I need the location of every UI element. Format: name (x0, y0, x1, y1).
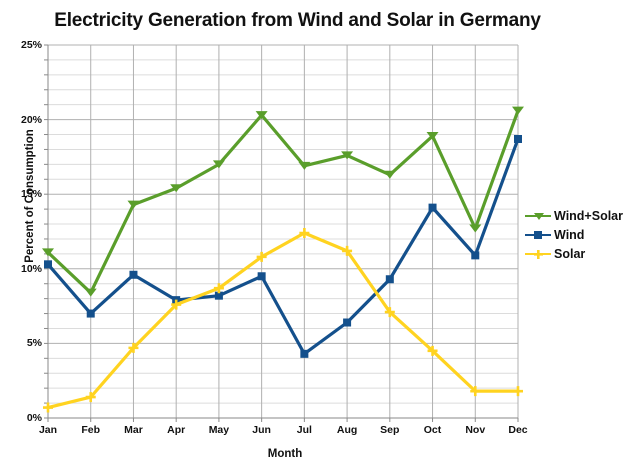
data-point-marker-square (429, 204, 437, 212)
data-point-marker-triangle-down (469, 225, 481, 233)
data-point-marker-square (514, 135, 522, 143)
legend-marker-plus-icon (525, 247, 551, 261)
legend-label: Wind (551, 228, 584, 242)
y-axis-tick-label: 20% (2, 114, 42, 126)
series-line-solar (48, 233, 518, 408)
y-axis-tick-label: 25% (2, 39, 42, 51)
data-point-marker-square (258, 272, 266, 280)
legend-item-wind[interactable]: Wind (525, 225, 623, 244)
legend-item-solar[interactable]: Solar (525, 244, 623, 263)
chart-legend: Wind+Solar Wind Solar (525, 206, 623, 263)
chart-container: Electricity Generation from Wind and Sol… (0, 0, 623, 467)
data-point-marker-plus (513, 386, 523, 396)
y-axis-tick-label: 5% (2, 337, 42, 349)
data-point-marker-square (471, 251, 479, 259)
series-line-wind-solar (48, 111, 518, 293)
x-axis-tick-label: Dec (488, 424, 548, 436)
data-point-marker-square (129, 271, 137, 279)
y-axis-tick-label: 10% (2, 263, 42, 275)
data-point-marker-plus (43, 403, 53, 413)
x-axis-label: Month (45, 448, 525, 460)
data-point-marker-triangle-down (85, 289, 97, 297)
data-point-marker-triangle-down (512, 107, 524, 115)
data-point-marker-square (343, 319, 351, 327)
data-point-marker-square (44, 260, 52, 268)
chart-title: Electricity Generation from Wind and Sol… (0, 10, 595, 32)
data-point-marker-square (87, 310, 95, 318)
legend-marker-triangle-down-icon (525, 209, 551, 223)
legend-label: Solar (551, 247, 585, 261)
data-point-marker-square (386, 275, 394, 283)
legend-item-wind-solar[interactable]: Wind+Solar (525, 206, 623, 225)
y-axis-tick-label: 15% (2, 188, 42, 200)
data-point-marker-triangle-down (384, 171, 396, 179)
y-axis-tick-labels: 0%5%10%15%20%25% (0, 0, 42, 467)
y-axis-tick-label: 0% (2, 412, 42, 424)
legend-marker-square-icon (525, 228, 551, 242)
legend-label: Wind+Solar (551, 209, 623, 223)
data-point-marker-square (300, 350, 308, 358)
